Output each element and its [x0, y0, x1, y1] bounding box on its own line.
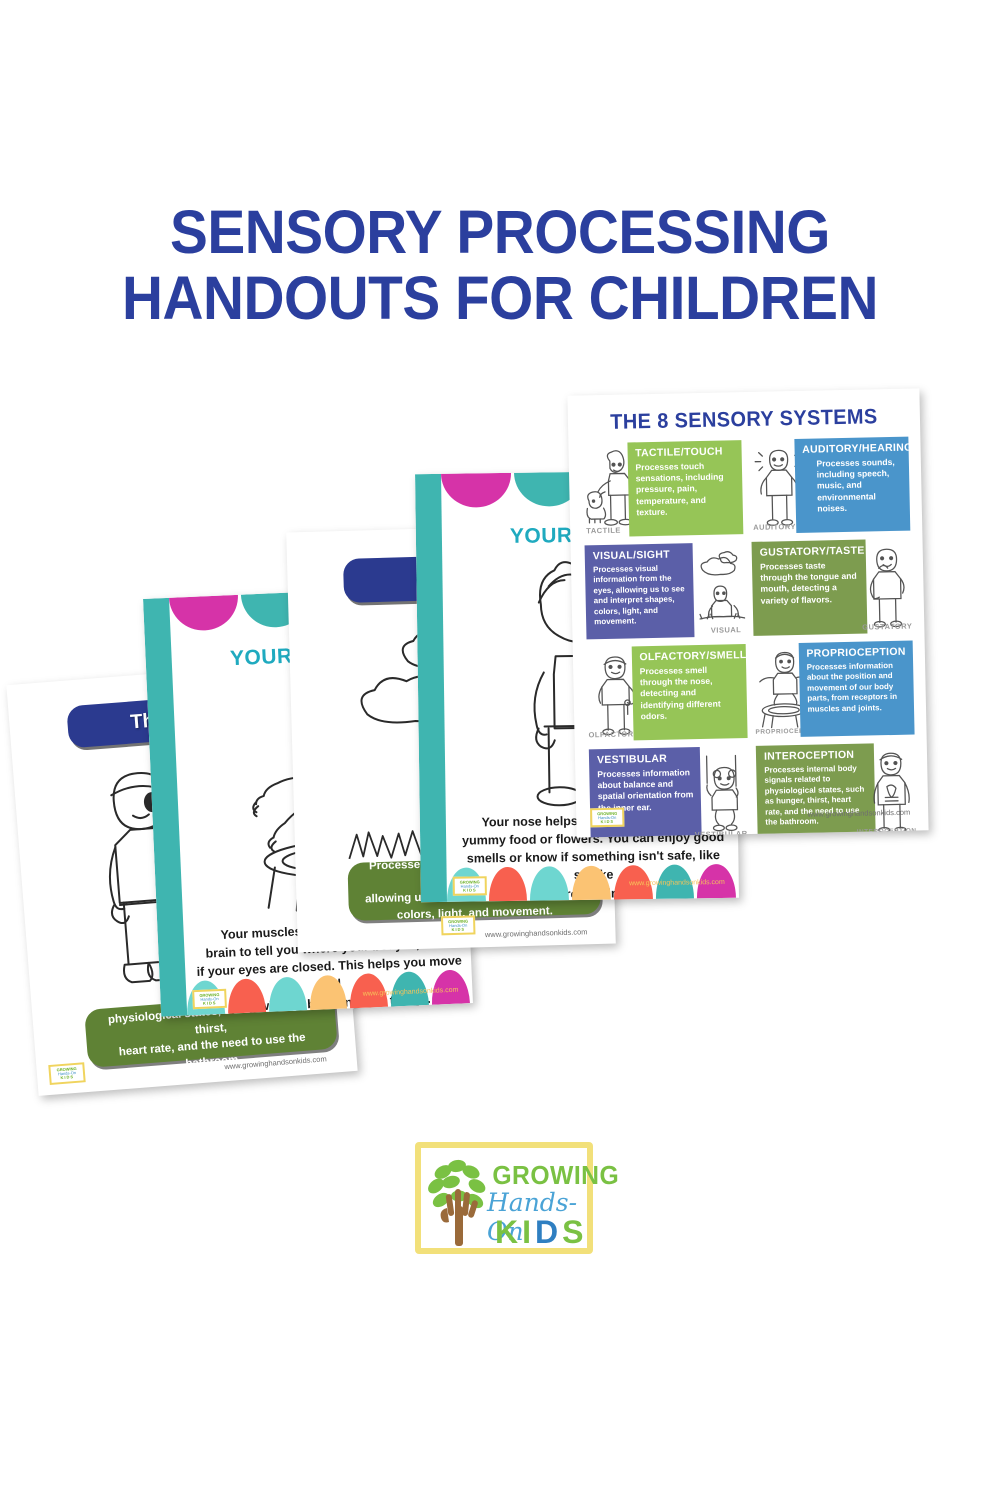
scallop-arch: [488, 867, 527, 902]
child-body-signals-icon: [861, 747, 917, 836]
figure-label: TACTILE: [586, 526, 621, 536]
system-heading: AUDITORY/HEARING: [802, 442, 902, 456]
brand-logo: GROWING Hands-On KIDS: [415, 1142, 593, 1254]
logo-word-growing: GROWING: [492, 1160, 619, 1191]
page-title: SENSORY PROCESSING HANDOUTS FOR CHILDREN: [35, 200, 965, 332]
system-description: Processes smell through the nose, detect…: [640, 664, 741, 722]
system-box-proprioception: PROPRIOCEPTION Processes information abo…: [798, 641, 914, 737]
system-heading: TACTILE/TOUCH: [635, 445, 735, 459]
scallop-arch: [441, 473, 511, 508]
system-box-gustatory: GUSTATORY/TASTE Processes taste through …: [752, 540, 868, 636]
mini-logo-kids: KIDS: [60, 1075, 74, 1080]
system-cell-auditory[interactable]: AUDITORY AUDITORY/HEARING Processes soun…: [749, 437, 910, 534]
figure-label: OLFACTORY: [588, 729, 639, 739]
mini-logo-kids: KIDS: [463, 888, 477, 892]
system-heading: PROPRIOCEPTION: [806, 646, 906, 660]
system-heading: OLFACTORY/SMELL: [639, 649, 739, 663]
system-heading: VESTIBULAR: [597, 752, 694, 766]
handout-url: www.growinghandsonkids.com: [485, 927, 588, 939]
mini-brand-logo: GROWING Hands-On KIDS: [590, 808, 624, 828]
system-box-olfactory: OLFACTORY/SMELL Processes smell through …: [631, 644, 747, 740]
system-cell-interoception[interactable]: INTEROCEPTION Processes internal body si…: [756, 743, 917, 838]
scallop-arch: [227, 978, 266, 1014]
mini-logo-kids: KIDS: [601, 819, 615, 823]
system-heading: VISUAL/SIGHT: [593, 548, 686, 562]
scallop-arch: [572, 866, 611, 901]
scallop-arch: [530, 866, 569, 901]
mini-brand-logo: GROWING Hands-On KIDS: [453, 876, 487, 895]
system-box-interoception: INTEROCEPTION Processes internal body si…: [756, 743, 876, 837]
scallop-arch: [169, 595, 239, 632]
scallop-arch: [267, 976, 306, 1012]
scallop-arch: [308, 975, 347, 1011]
poster-grid: TACTILE TACTILE/TOUCH Processes touch se…: [582, 437, 916, 838]
system-description: Processes information about the position…: [807, 661, 908, 715]
mini-logo-kids: KIDS: [452, 927, 466, 931]
figure-label: GUSTATORY: [862, 622, 912, 632]
page-title-line2: HANDOUTS FOR CHILDREN: [35, 266, 965, 332]
handout-url: www.growinghandsonkids.com: [629, 879, 725, 887]
figure-label: AUDITORY: [753, 522, 796, 532]
system-cell-gustatory[interactable]: GUSTATORY/TASTE Processes taste through …: [752, 539, 913, 636]
system-box-tactile: TACTILE/TOUCH Processes touch sensations…: [627, 440, 743, 536]
figure-label: VISUAL: [711, 625, 742, 635]
system-box-visual: VISUAL/SIGHT Processes visual informatio…: [585, 543, 695, 639]
mini-brand-logo: GROWING Hands-On KIDS: [441, 915, 476, 935]
tree-hand-icon: [427, 1156, 491, 1248]
poster-8-sensory-systems[interactable]: THE 8 SENSORY SYSTEMS: [567, 388, 928, 837]
system-box-auditory: AUDITORY/HEARING Processes sounds, inclu…: [794, 437, 910, 533]
figure-label: INTEROCEPTION: [857, 828, 917, 836]
mini-brand-logo: GROWING Hands-On KIDS: [48, 1062, 85, 1085]
page-title-line1: SENSORY PROCESSING: [35, 200, 965, 266]
poster-title: THE 8 SENSORY SYSTEMS: [577, 405, 912, 436]
system-description: Processes sounds, including speech, musi…: [802, 457, 903, 515]
handout-stack: The Inter Processes inte p: [0, 370, 1000, 1130]
child-looking-at-clouds-icon: [690, 546, 746, 635]
logo-word-kids: KIDS: [495, 1214, 587, 1251]
system-description: Processes visual information from the ey…: [593, 563, 687, 627]
mini-logo-kids: KIDS: [203, 1001, 217, 1006]
system-heading: INTEROCEPTION: [764, 749, 867, 763]
system-heading: GUSTATORY/TASTE: [760, 545, 860, 559]
mini-brand-logo: GROWING Hands-On KIDS: [192, 989, 227, 1009]
child-tasting-icon: [857, 543, 913, 632]
system-description: Processes touch sensations, including pr…: [635, 460, 736, 518]
system-cell-olfactory[interactable]: OLFACTORY OLFACTORY/SMELL Processes smel…: [587, 644, 748, 741]
system-cell-visual[interactable]: VISUAL/SIGHT Processes visual informatio…: [585, 542, 746, 639]
system-description: Processes information about balance and …: [597, 767, 694, 814]
system-cell-proprioception[interactable]: PROPRIOCEPTION PROPRIOCEPTION Processes …: [754, 641, 915, 738]
system-description: Processes taste through the tongue and m…: [760, 560, 860, 607]
child-on-swing-icon: [694, 750, 750, 838]
system-cell-tactile[interactable]: TACTILE TACTILE/TOUCH Processes touch se…: [582, 440, 743, 537]
